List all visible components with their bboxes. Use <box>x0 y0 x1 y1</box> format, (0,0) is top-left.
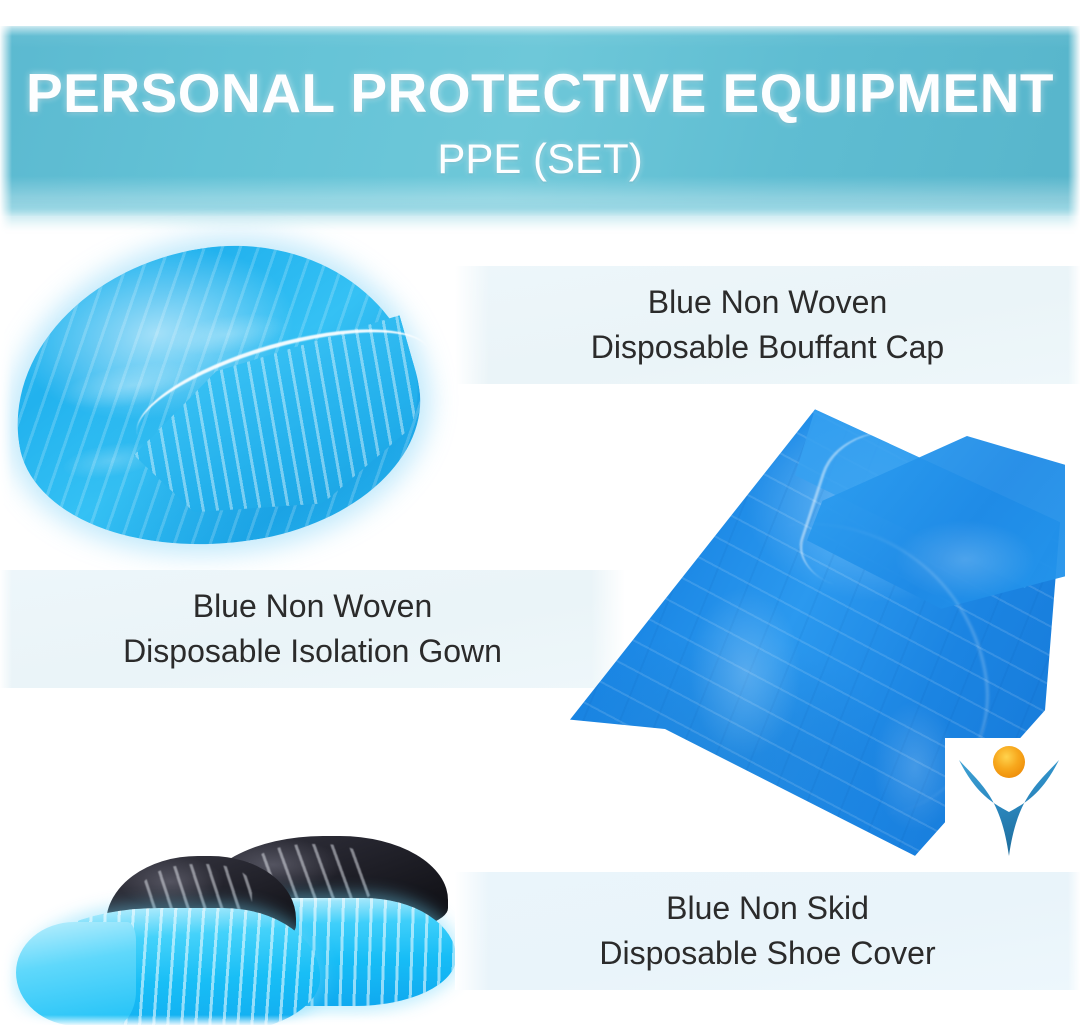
page-title: PERSONAL PROTECTIVE EQUIPMENT <box>0 66 1080 121</box>
caption-line-2: Disposable Bouffant Cap <box>591 325 944 370</box>
brand-logo <box>945 738 1075 864</box>
caption-line-1: Blue Non Woven <box>648 280 888 325</box>
product-image-canvas: PERSONAL PROTECTIVE EQUIPMENT PPE (SET) … <box>0 0 1080 1025</box>
caption-isolation-gown: Blue Non Woven Disposable Isolation Gown <box>0 570 625 688</box>
page-subtitle: PPE (SET) <box>0 138 1080 180</box>
shoe-cover-toe <box>16 922 136 1025</box>
caption-line-1: Blue Non Skid <box>666 886 869 931</box>
caption-shoe-cover: Blue Non Skid Disposable Shoe Cover <box>455 872 1080 990</box>
logo-sun-circle <box>993 746 1025 778</box>
caption-line-1: Blue Non Woven <box>193 584 433 629</box>
edge-fade-top <box>0 0 1080 28</box>
bouffant-cap-photo <box>8 232 428 562</box>
edge-fade-left <box>0 0 12 1025</box>
caption-bouffant-cap: Blue Non Woven Disposable Bouffant Cap <box>455 266 1080 384</box>
brand-logo-icon <box>945 738 1075 864</box>
shoe-front <box>20 856 320 1025</box>
caption-line-2: Disposable Isolation Gown <box>123 629 502 674</box>
shoe-cover-photo <box>20 818 460 1025</box>
edge-fade-right <box>1068 0 1080 1025</box>
edge-fade-bottom <box>0 1015 1080 1025</box>
caption-line-2: Disposable Shoe Cover <box>599 931 935 976</box>
header-banner: PERSONAL PROTECTIVE EQUIPMENT PPE (SET) <box>0 26 1080 216</box>
